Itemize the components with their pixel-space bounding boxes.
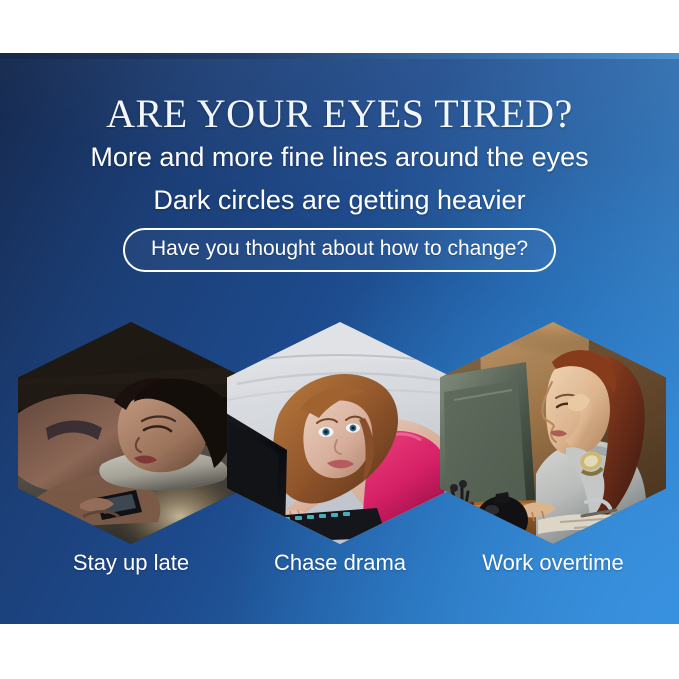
caption-chase-drama: Chase drama: [227, 549, 453, 577]
hex-photo-chase-drama: [227, 322, 453, 544]
poster-root: ARE YOUR EYES TIRED? More and more fine …: [0, 0, 679, 679]
hex-card-stay-up-late[interactable]: [18, 322, 244, 544]
hex-card-chase-drama[interactable]: [227, 322, 453, 544]
hex-photo-work-overtime: [440, 322, 666, 544]
subtitle-line-2: Dark circles are getting heavier: [0, 184, 679, 216]
hexagon-image-row: [0, 322, 679, 544]
call-to-action-container: Have you thought about how to change?: [0, 228, 679, 272]
hex-photo-stay-up-late: [18, 322, 244, 544]
caption-work-overtime: Work overtime: [440, 549, 666, 577]
page-title: ARE YOUR EYES TIRED?: [0, 92, 679, 136]
panel-top-edge: [0, 53, 679, 59]
question-pill[interactable]: Have you thought about how to change?: [123, 228, 556, 272]
subtitle-line-1: More and more fine lines around the eyes: [0, 141, 679, 173]
caption-stay-up-late: Stay up late: [18, 549, 244, 577]
hex-card-work-overtime[interactable]: [440, 322, 666, 544]
